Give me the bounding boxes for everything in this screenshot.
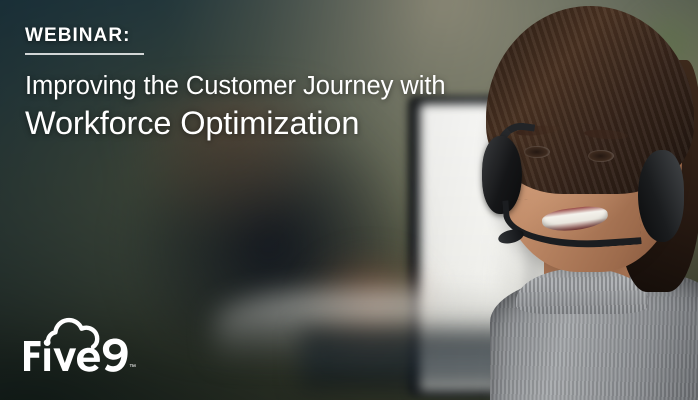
subject-eye-right	[588, 150, 614, 162]
headset-microphone	[497, 227, 525, 246]
title-line-2: Workforce Optimization	[25, 105, 495, 142]
trademark-symbol: ™	[129, 364, 136, 371]
headline-block: WEBINAR: Improving the Customer Journey …	[25, 26, 495, 142]
cloud-icon	[48, 320, 97, 347]
five9-wordmark	[24, 339, 128, 372]
five9-logo[interactable]: ™	[22, 311, 142, 373]
title-line-1: Improving the Customer Journey with	[25, 71, 495, 101]
eyebrow-label: WEBINAR:	[25, 26, 144, 55]
headset-earcup-far	[638, 150, 684, 242]
webinar-promo-banner: WEBINAR: Improving the Customer Journey …	[0, 0, 698, 400]
